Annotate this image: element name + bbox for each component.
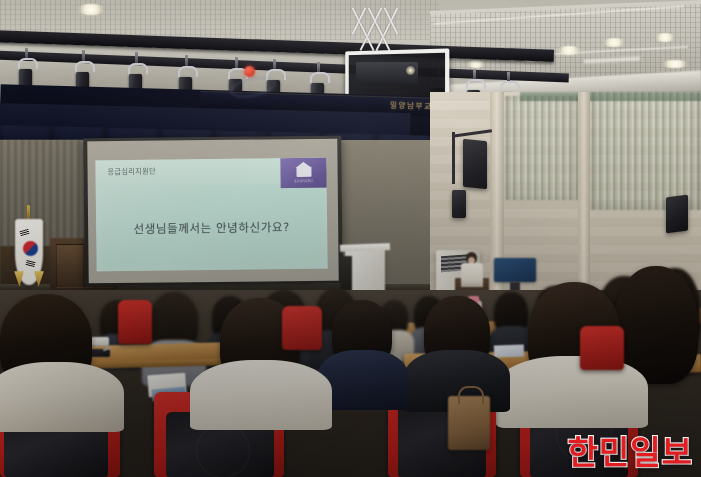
speaker-bracket xyxy=(452,132,455,184)
tote-bag xyxy=(448,396,490,450)
bag-handle-icon xyxy=(458,386,484,404)
taegukgi-flag xyxy=(8,205,52,297)
slide-header: 응급심리지원단 응급심리지원단 xyxy=(95,158,326,187)
chair xyxy=(282,306,322,350)
attendee-foreground-center xyxy=(404,296,508,412)
chair xyxy=(580,326,624,370)
slide-main-text: 선생님들께서는 안녕하신가요? xyxy=(133,219,289,237)
chair xyxy=(118,300,152,344)
projector-lens-icon xyxy=(406,66,415,75)
ceiling-downlight xyxy=(466,60,486,68)
ceiling-downlight xyxy=(660,60,690,68)
ceiling-downlight xyxy=(556,46,582,55)
ceiling-downlight xyxy=(602,38,626,47)
slide-body: 선생님들께서는 안녕하신가요? xyxy=(96,184,328,272)
decoration-red-dot xyxy=(244,66,255,77)
wall-pilaster xyxy=(578,92,590,302)
presentation-slide: 응급심리지원단 응급심리지원단 선생님들께서는 안녕하신가요? xyxy=(95,158,327,272)
wall-speaker xyxy=(666,195,688,234)
attendee-foreground-left xyxy=(0,294,128,428)
projector-scissor-lift xyxy=(352,6,422,52)
window-curtain-right xyxy=(590,92,701,210)
news-watermark: 한민일보 xyxy=(568,436,693,469)
chair-logo-icon xyxy=(196,424,250,477)
presenter-body xyxy=(461,263,483,287)
wall-speaker xyxy=(463,139,487,190)
photo-scene: 밀양남부교육지원청 어울림 응급심리지원단 xyxy=(0,0,701,477)
window-curtain-center xyxy=(504,96,578,200)
ceiling-downlight xyxy=(654,33,676,42)
slide-logo-caption: 응급심리지원단 xyxy=(294,179,313,183)
presenter xyxy=(461,252,483,292)
house-icon xyxy=(296,163,311,177)
ceiling-downlight xyxy=(76,4,106,15)
flag-taeguk-circle-icon xyxy=(23,241,38,256)
confidence-monitor xyxy=(494,258,536,282)
cabinet-door xyxy=(56,244,84,288)
slide-header-title: 응급심리지원단 xyxy=(107,167,156,178)
wall-speaker-sub xyxy=(452,190,466,218)
